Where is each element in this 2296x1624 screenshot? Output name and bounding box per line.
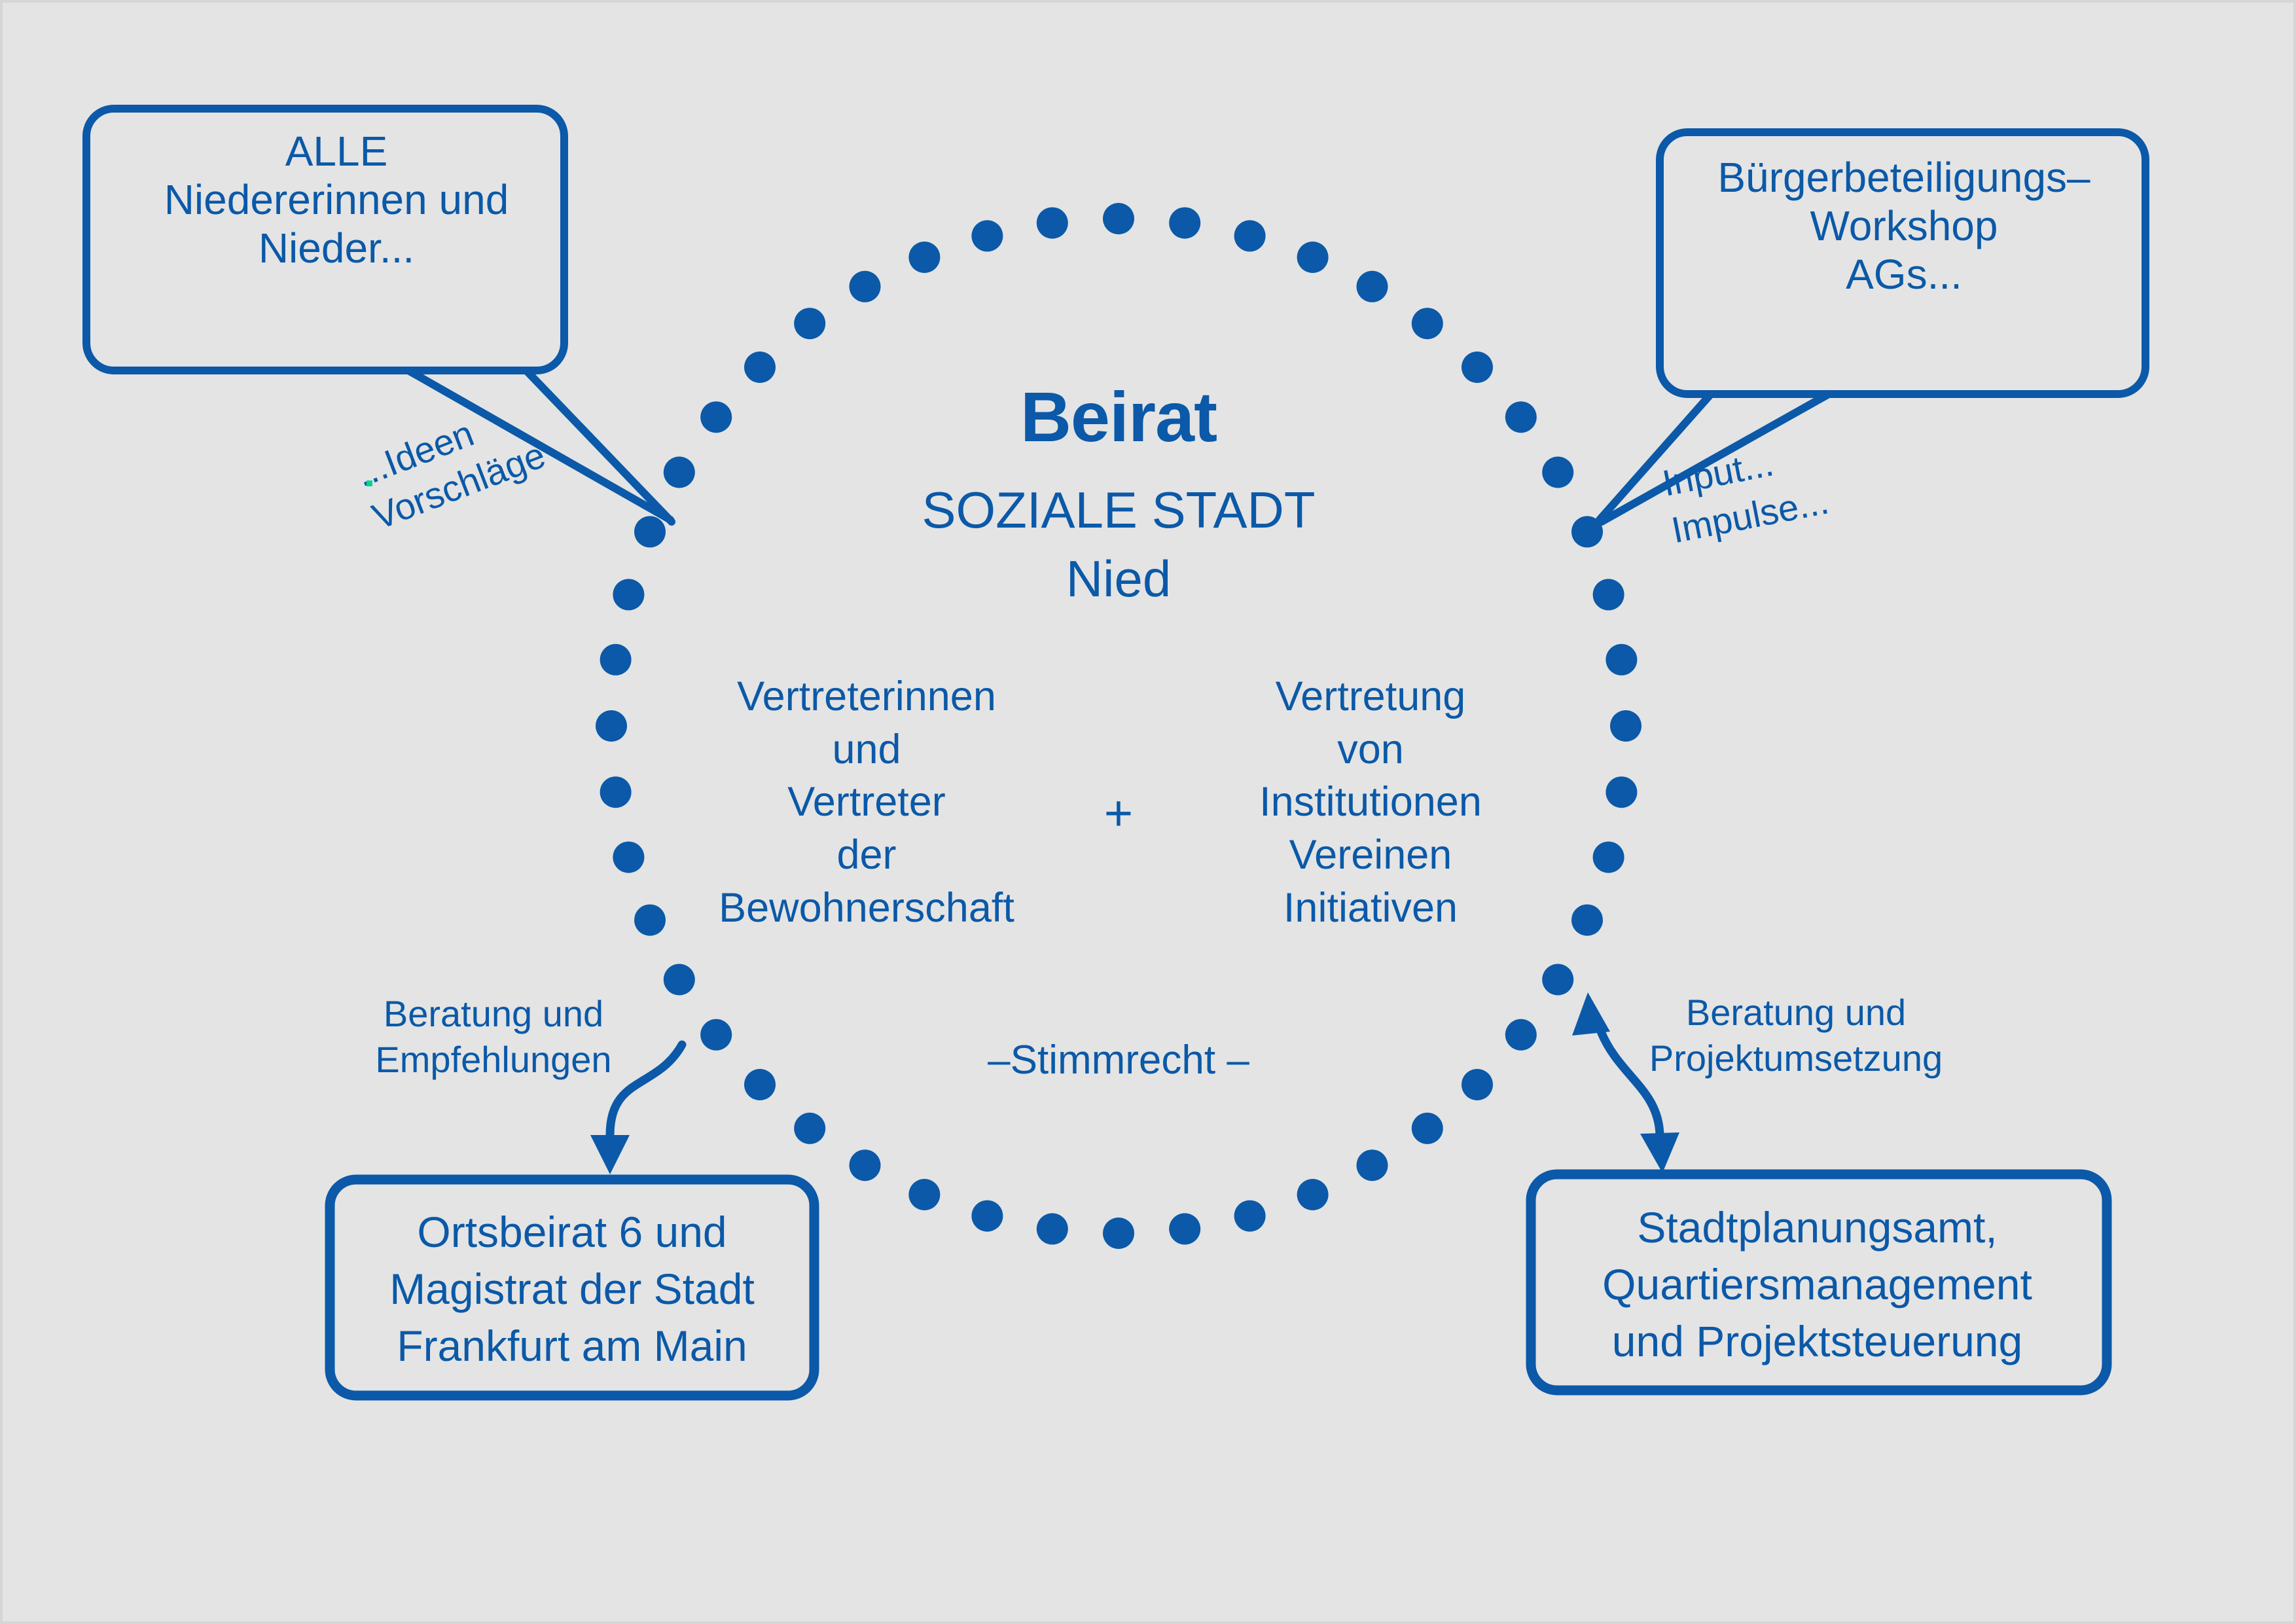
circle-dot	[908, 1179, 940, 1210]
circle-dot	[971, 1200, 1003, 1232]
circle-dot	[1169, 1213, 1200, 1244]
circle-dot	[1234, 1200, 1266, 1232]
circle-dot	[744, 352, 776, 383]
circle-dot	[971, 220, 1003, 251]
arrow-label-beratung-projektumsetzung: Beratung und Projektumsetzung	[1632, 990, 1960, 1081]
circle-dot	[600, 776, 632, 808]
circle-dot	[1542, 457, 1573, 488]
circle-dot	[613, 579, 644, 610]
circle-dot	[1610, 710, 1641, 742]
circle-dot	[1462, 1069, 1493, 1100]
bubble-right-label: Bürgerbeteiligungs– Workshop AGs...	[1678, 153, 2130, 299]
circle-dot	[664, 457, 695, 488]
circle-dot	[1169, 208, 1200, 239]
box-left-label: Ortsbeirat 6 und Magistrat der Stadt Fra…	[343, 1204, 801, 1375]
plus-operator: +	[1076, 785, 1161, 842]
circle-dot	[908, 242, 940, 273]
circle-dot	[850, 271, 881, 302]
page-title: Beirat	[824, 376, 1413, 458]
circle-dot	[700, 1019, 732, 1051]
circle-dot	[1593, 842, 1624, 873]
circle-dot	[1542, 964, 1573, 996]
center-footnote-stimmrecht: –Stimmrecht –	[916, 1037, 1321, 1084]
green-speck-artifact	[367, 480, 372, 486]
circle-dot	[1505, 1019, 1537, 1051]
circle-dot	[794, 308, 825, 339]
circle-dot	[1103, 1218, 1134, 1249]
circle-dot	[634, 905, 666, 936]
circle-dot	[596, 710, 627, 742]
center-subtitle-line2: Nied	[824, 549, 1413, 608]
circle-dot	[700, 401, 732, 433]
circle-dot	[794, 1113, 825, 1144]
center-column-right: Vertretung von Institutionen Vereinen In…	[1168, 670, 1573, 934]
circle-dot	[1462, 352, 1493, 383]
bubble-left-label: ALLE Niedererinnen und Nieder...	[101, 127, 572, 273]
circle-dot	[1037, 208, 1068, 239]
circle-dot	[1571, 905, 1603, 936]
circle-dot	[1297, 242, 1329, 273]
circle-dot	[1505, 401, 1537, 433]
circle-dot	[1357, 271, 1388, 302]
circle-dot	[1103, 203, 1134, 234]
center-column-left: Vertreterinnen und Vertreter der Bewohne…	[664, 670, 1069, 934]
arrow-label-beratung-empfehlungen: Beratung und Empfehlungen	[356, 991, 631, 1083]
circle-dot	[1605, 776, 1637, 808]
circle-dot	[1605, 644, 1637, 676]
circle-dot	[1593, 579, 1624, 610]
circle-dot	[634, 516, 666, 547]
circle-dot	[850, 1149, 881, 1181]
circle-dot	[613, 842, 644, 873]
center-subtitle-line1: SOZIALE STADT	[824, 480, 1413, 539]
circle-dot	[744, 1069, 776, 1100]
circle-dot	[600, 644, 632, 676]
diagram-canvas: ALLE Niedererinnen und Nieder... Bürgerb…	[0, 0, 2296, 1624]
circle-dot	[1037, 1213, 1068, 1244]
circle-dot	[664, 964, 695, 996]
circle-dot	[1297, 1179, 1329, 1210]
circle-dot	[1412, 308, 1443, 339]
circle-dot	[1234, 220, 1266, 251]
circle-dot	[1357, 1149, 1388, 1181]
box-right-label: Stadtplanungsamt, Quartiersmanagement un…	[1541, 1199, 2094, 1370]
circle-dot	[1412, 1113, 1443, 1144]
